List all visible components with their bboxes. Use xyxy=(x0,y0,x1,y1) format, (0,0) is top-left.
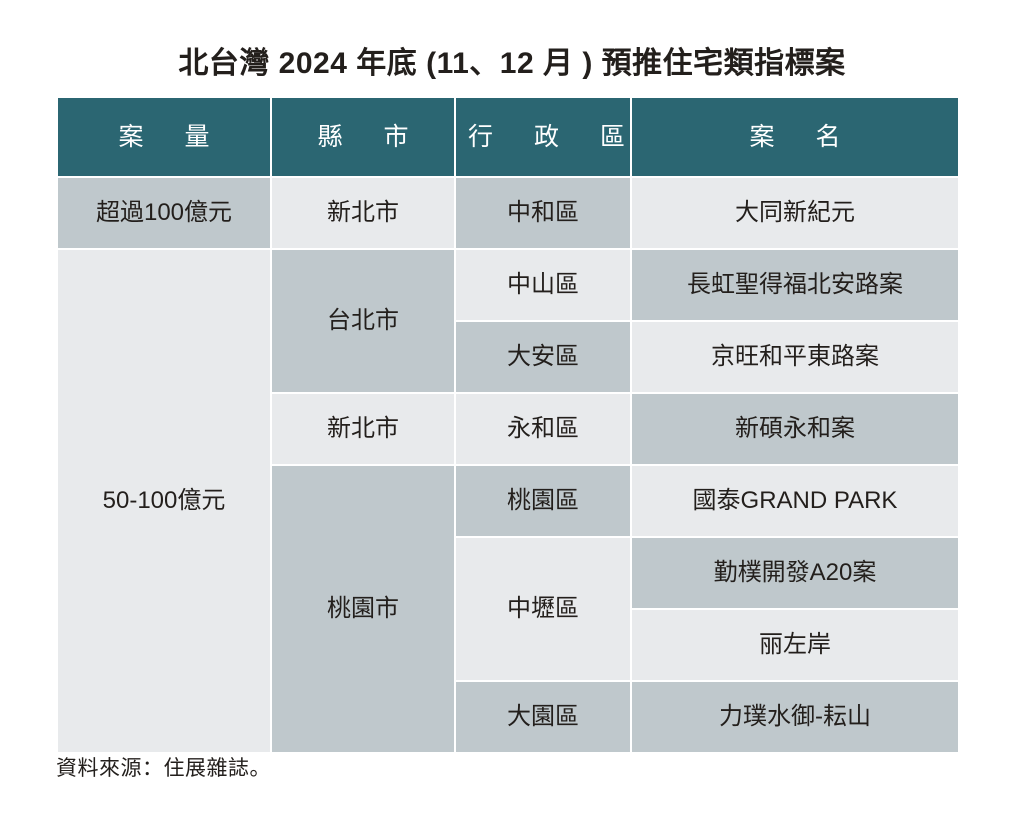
indicator-projects-table: 案 量 縣 市 行 政 區 案 名 超過100億元新北市中和區大同新紀元50-1… xyxy=(56,96,960,754)
page-title: 北台灣 2024 年底 (11、12 月 ) 預推住宅類指標案 xyxy=(0,38,1024,82)
cell-district: 桃園區 xyxy=(456,466,630,536)
cell-district: 大園區 xyxy=(456,682,630,752)
cell-project: 長虹聖得福北安路案 xyxy=(632,250,958,320)
cell-project: 京旺和平東路案 xyxy=(632,322,958,392)
table-header-row: 案 量 縣 市 行 政 區 案 名 xyxy=(58,98,958,176)
cell-volume: 50-100億元 xyxy=(58,250,270,752)
cell-project: 丽左岸 xyxy=(632,610,958,680)
table-row: 50-100億元台北市中山區長虹聖得福北安路案 xyxy=(58,250,958,320)
column-header-project: 案 名 xyxy=(632,98,958,176)
indicator-projects-table-wrap: 案 量 縣 市 行 政 區 案 名 超過100億元新北市中和區大同新紀元50-1… xyxy=(56,96,960,754)
table-row: 超過100億元新北市中和區大同新紀元 xyxy=(58,178,958,248)
cell-project: 新碩永和案 xyxy=(632,394,958,464)
column-header-district: 行 政 區 xyxy=(456,98,630,176)
cell-district: 中山區 xyxy=(456,250,630,320)
report-page: 北台灣 2024 年底 (11、12 月 ) 預推住宅類指標案 案 量 縣 市 … xyxy=(0,0,1024,825)
column-header-city: 縣 市 xyxy=(272,98,454,176)
cell-volume: 超過100億元 xyxy=(58,178,270,248)
cell-project: 國泰GRAND PARK xyxy=(632,466,958,536)
cell-project: 大同新紀元 xyxy=(632,178,958,248)
cell-district: 永和區 xyxy=(456,394,630,464)
cell-district: 中壢區 xyxy=(456,538,630,680)
cell-project: 勤樸開發A20案 xyxy=(632,538,958,608)
cell-city: 台北市 xyxy=(272,250,454,392)
cell-city: 新北市 xyxy=(272,394,454,464)
cell-district: 大安區 xyxy=(456,322,630,392)
cell-city: 桃園市 xyxy=(272,466,454,752)
table-header: 案 量 縣 市 行 政 區 案 名 xyxy=(58,98,958,176)
source-note: 資料來源：住展雜誌。 xyxy=(56,752,271,782)
cell-project: 力璞水御-耘山 xyxy=(632,682,958,752)
table-body: 超過100億元新北市中和區大同新紀元50-100億元台北市中山區長虹聖得福北安路… xyxy=(58,178,958,752)
column-header-volume: 案 量 xyxy=(58,98,270,176)
cell-city: 新北市 xyxy=(272,178,454,248)
cell-district: 中和區 xyxy=(456,178,630,248)
